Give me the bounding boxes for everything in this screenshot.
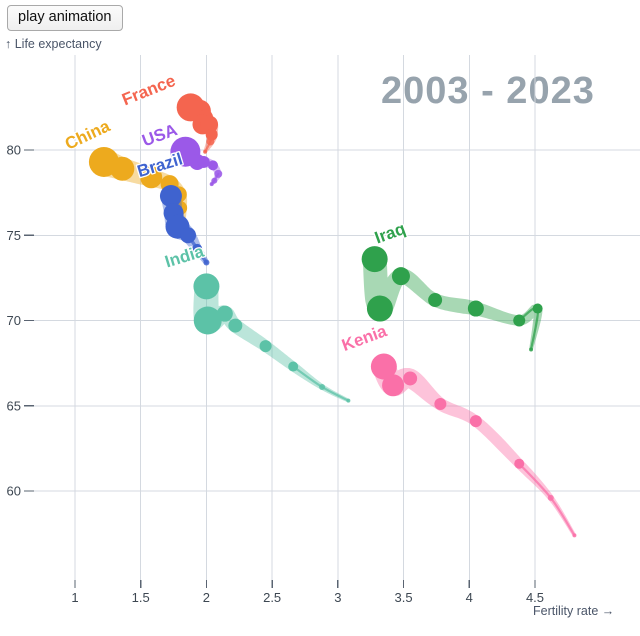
y-tick-label: 70: [7, 313, 21, 328]
data-point: [382, 374, 404, 396]
x-tick-label: 4: [466, 590, 473, 605]
data-point: [533, 304, 543, 314]
data-point: [260, 340, 272, 352]
data-point: [210, 182, 214, 186]
data-point: [468, 301, 484, 317]
data-point: [514, 459, 524, 469]
data-point: [193, 273, 219, 299]
series-kenia: Kenia: [339, 321, 576, 537]
scatter-plot: 11.522.533.544.58075706560FranceUSAChina…: [0, 0, 640, 636]
data-point: [228, 319, 242, 333]
data-point: [367, 296, 393, 322]
data-point: [288, 362, 298, 372]
data-point: [392, 267, 410, 285]
series-iraq: Iraq: [362, 219, 543, 351]
data-point: [362, 246, 388, 272]
chart-page: play animation ↑ Life expectancy Fertili…: [0, 0, 640, 636]
x-tick-label: 2: [203, 590, 210, 605]
y-tick-label: 80: [7, 143, 21, 158]
data-point: [428, 293, 442, 307]
trail-ribbon: [193, 286, 349, 402]
x-tick-label: 2.5: [263, 590, 281, 605]
country-label-iraq: Iraq: [372, 219, 408, 248]
data-point: [470, 415, 482, 427]
data-point: [180, 227, 196, 243]
data-point: [572, 533, 576, 537]
x-tick-label: 1.5: [132, 590, 150, 605]
data-point: [319, 384, 325, 390]
x-tick-label: 3.5: [395, 590, 413, 605]
data-point: [198, 156, 210, 168]
x-tick-label: 4.5: [526, 590, 544, 605]
country-label-kenia: Kenia: [339, 321, 390, 355]
data-point: [203, 260, 209, 266]
data-point: [434, 398, 446, 410]
y-tick-label: 75: [7, 228, 21, 243]
x-tick-label: 1: [71, 590, 78, 605]
data-point: [548, 495, 554, 501]
data-point: [346, 399, 350, 403]
data-point: [208, 160, 218, 170]
country-label-france: France: [119, 71, 178, 110]
data-point: [403, 371, 417, 385]
y-tick-label: 65: [7, 398, 21, 413]
data-point: [206, 137, 214, 145]
data-point: [513, 315, 525, 327]
y-tick-label: 60: [7, 484, 21, 499]
x-tick-label: 3: [334, 590, 341, 605]
data-point: [203, 150, 207, 154]
series-layer: FranceUSAChinaBrazilIndiaIraqKenia: [62, 71, 576, 537]
data-point: [214, 170, 222, 178]
data-point: [110, 157, 134, 181]
data-point: [529, 347, 533, 351]
series-india: India: [163, 242, 351, 403]
data-point: [217, 306, 233, 322]
country-label-india: India: [163, 242, 207, 272]
